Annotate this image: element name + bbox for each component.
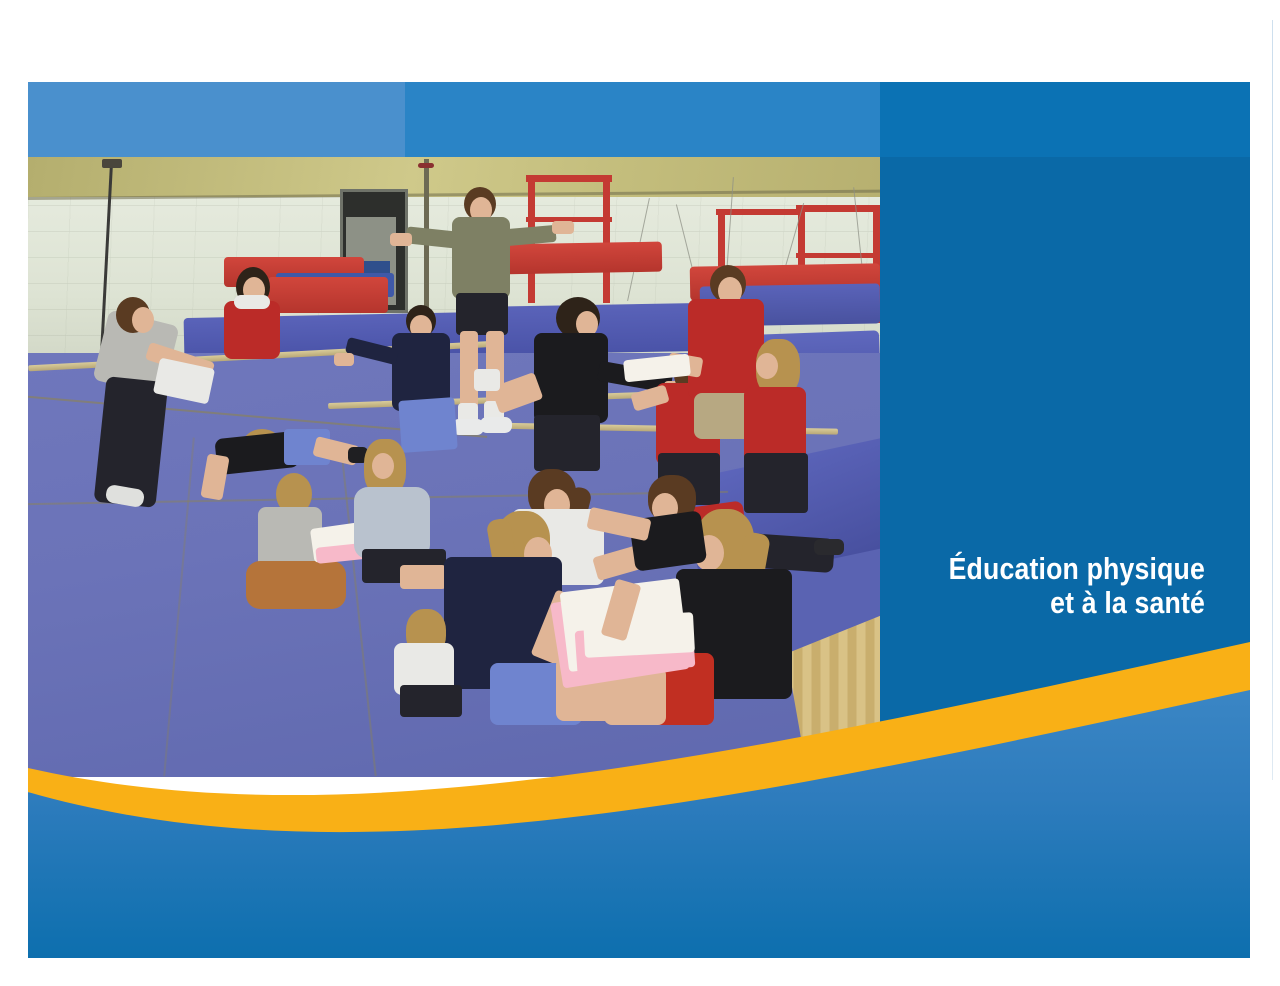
page-edge-line [1272,20,1273,780]
top-band-middle [405,82,880,157]
cover-page: Éducation physique et à la santé [0,0,1280,986]
person-blonde-girl-leg [400,565,446,589]
climbing-rope-rung [418,163,434,168]
red-mat [268,277,388,313]
person-tan-girl-pants [246,561,346,609]
cover-photograph [28,157,880,777]
person-kneeling-black-shorts [534,415,600,471]
uneven-bars-rail [796,205,880,212]
page-title-line-2: et à la santé [947,586,1205,620]
paper-stack-white [583,612,695,658]
top-band-left [28,82,405,157]
person-kneeling-black-sock [474,369,500,391]
cover-canvas: Éducation physique et à la santé [28,82,1250,958]
page-title-line-1: Éducation physique [947,552,1205,586]
right-blue-column-top [880,82,1250,157]
person-standing-boy-shorts [456,293,508,335]
uneven-bars-rail [526,175,612,182]
person-teen-red-shirt [688,299,764,399]
person-blonde-girl-face [372,453,394,479]
person-standing-boy-shirt [452,217,510,299]
person-girl-glasses-jacket [224,301,280,359]
person-kneeling-right-shoe [814,539,844,555]
person-standing-boy-hand-left [390,233,412,246]
person-girl-glasses-collar [234,295,270,309]
red-mat [502,242,662,275]
person-red-polo-pants [744,453,808,513]
person-standing-boy-shoe [480,417,512,433]
person-standing-boy-hand-right [552,221,574,234]
uneven-bars-rail [716,209,800,215]
uneven-bars-post [603,175,610,303]
person-dark-tee-boy-shorts [398,397,457,453]
gym-pole-bracket [102,159,122,168]
person-red-polo-face [756,353,778,379]
right-blue-column [880,82,1250,958]
uneven-bars-rail [796,253,880,258]
person-dark-tee-boy-hand [334,353,354,366]
person-teacher-face [132,307,154,333]
page-title: Éducation physique et à la santé [947,552,1205,620]
person-edge-left-shorts [400,685,462,717]
